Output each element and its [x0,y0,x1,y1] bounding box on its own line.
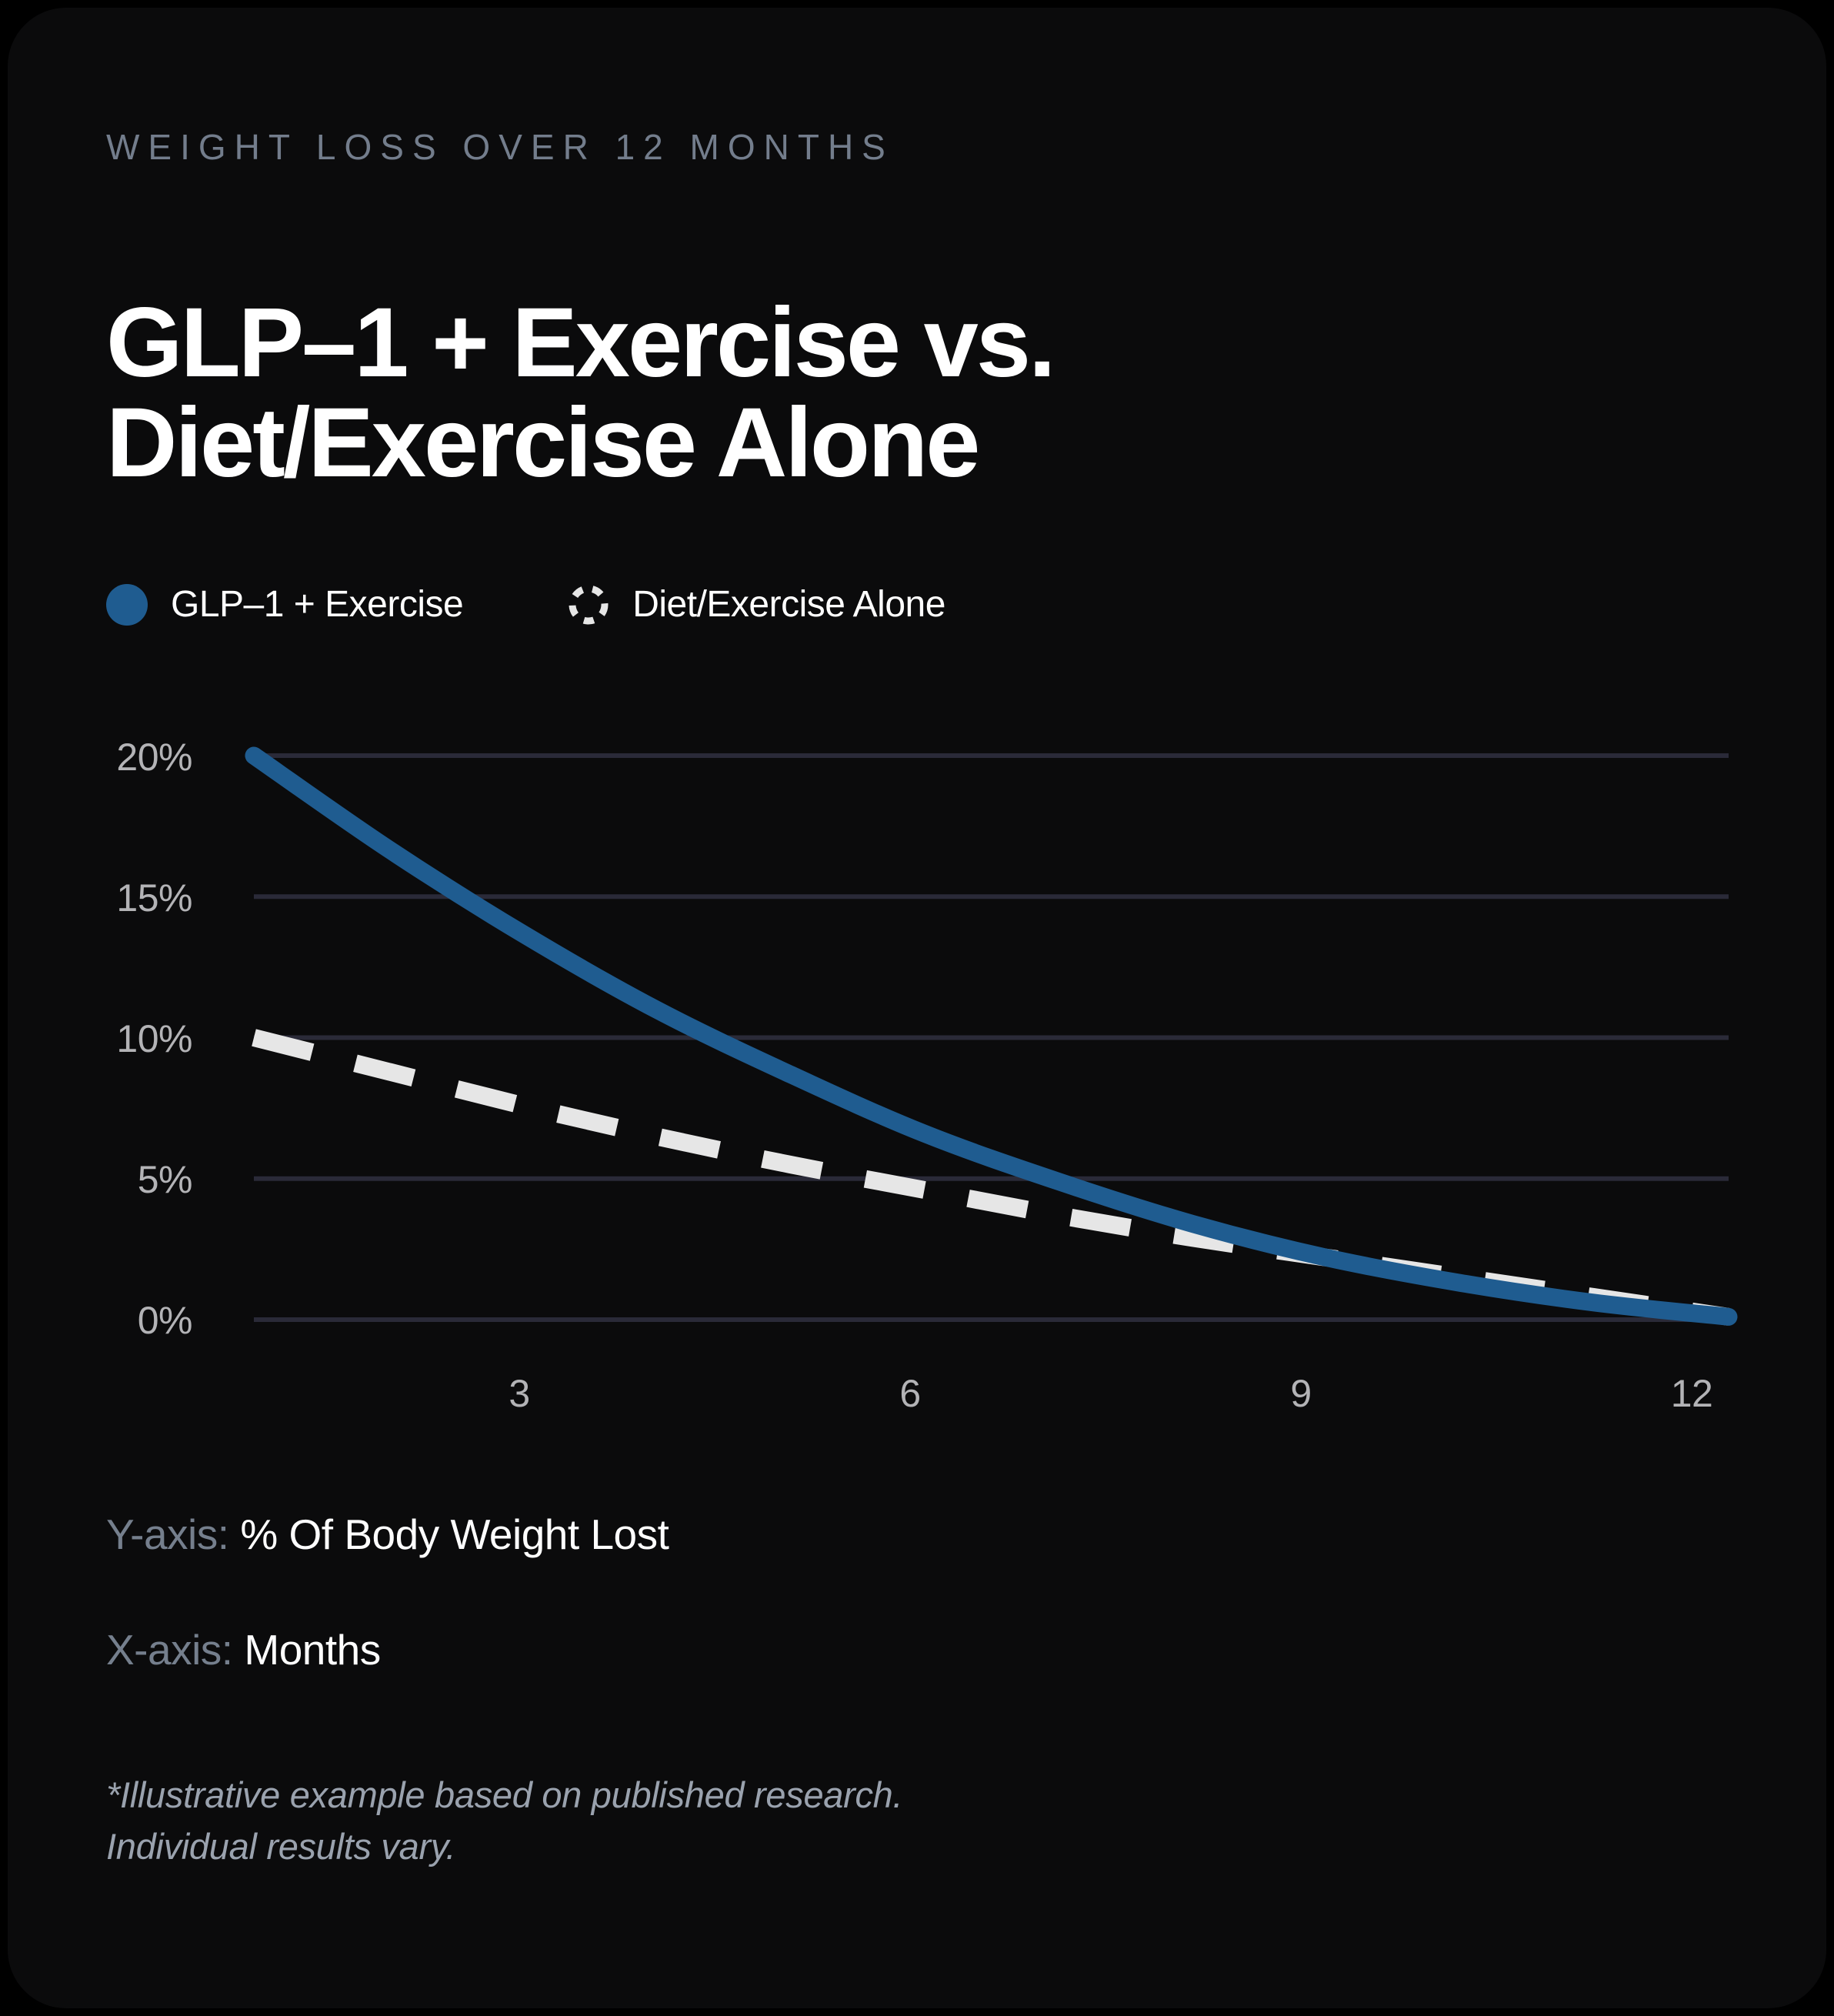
page-title-line-1: GLP–1 + Exercise vs. [106,293,1568,394]
legend-item-label: GLP–1 + Exercise [171,583,463,626]
legend-item-diet-exercise[interactable]: Diet/Exercise Alone [568,583,945,626]
chart-card: WEIGHT LOSS OVER 12 MONTHS GLP–1 + Exerc… [8,8,1826,2008]
y-axis-caption-value: % Of Body Weight Lost [240,1510,669,1558]
series-line-diet-exercise [254,1038,1729,1317]
chart-svg [106,723,1745,1339]
x-tick-label: 6 [849,1371,972,1416]
dashed-circle-icon [568,584,609,626]
y-axis-caption-label: Y-axis: [106,1510,229,1558]
chart-legend: GLP–1 + Exercise Diet/Exercise Alone [106,583,945,626]
x-tick-label: 9 [1239,1371,1362,1416]
y-tick-label: 0% [54,1298,192,1343]
x-axis-caption-value: Months [244,1626,380,1674]
eyebrow-label: WEIGHT LOSS OVER 12 MONTHS [106,126,894,168]
y-tick-label: 5% [54,1157,192,1202]
footnote-line-1: *Illustrative example based on published… [106,1770,902,1821]
legend-item-glp1[interactable]: GLP–1 + Exercise [106,583,463,626]
x-tick-label: 3 [458,1371,581,1416]
y-tick-label: 20% [54,735,192,779]
y-tick-label: 10% [54,1016,192,1061]
footnote-line-2: Individual results vary. [106,1821,902,1873]
legend-item-label: Diet/Exercise Alone [632,583,945,626]
footnote: *Illustrative example based on published… [106,1770,902,1872]
page-title-line-2: Diet/Exercise Alone [106,393,1568,494]
x-tick-label: 12 [1630,1371,1753,1416]
solid-circle-icon [106,584,148,626]
page-title: GLP–1 + Exercise vs. Diet/Exercise Alone [106,293,1568,494]
chart-gridlines [254,756,1729,1320]
y-tick-label: 15% [54,876,192,920]
x-axis-caption: X-axis: Months [106,1625,381,1674]
y-axis-caption: Y-axis: % Of Body Weight Lost [106,1510,669,1559]
x-axis-caption-label: X-axis: [106,1626,233,1674]
series-line-glp1 [254,756,1729,1317]
